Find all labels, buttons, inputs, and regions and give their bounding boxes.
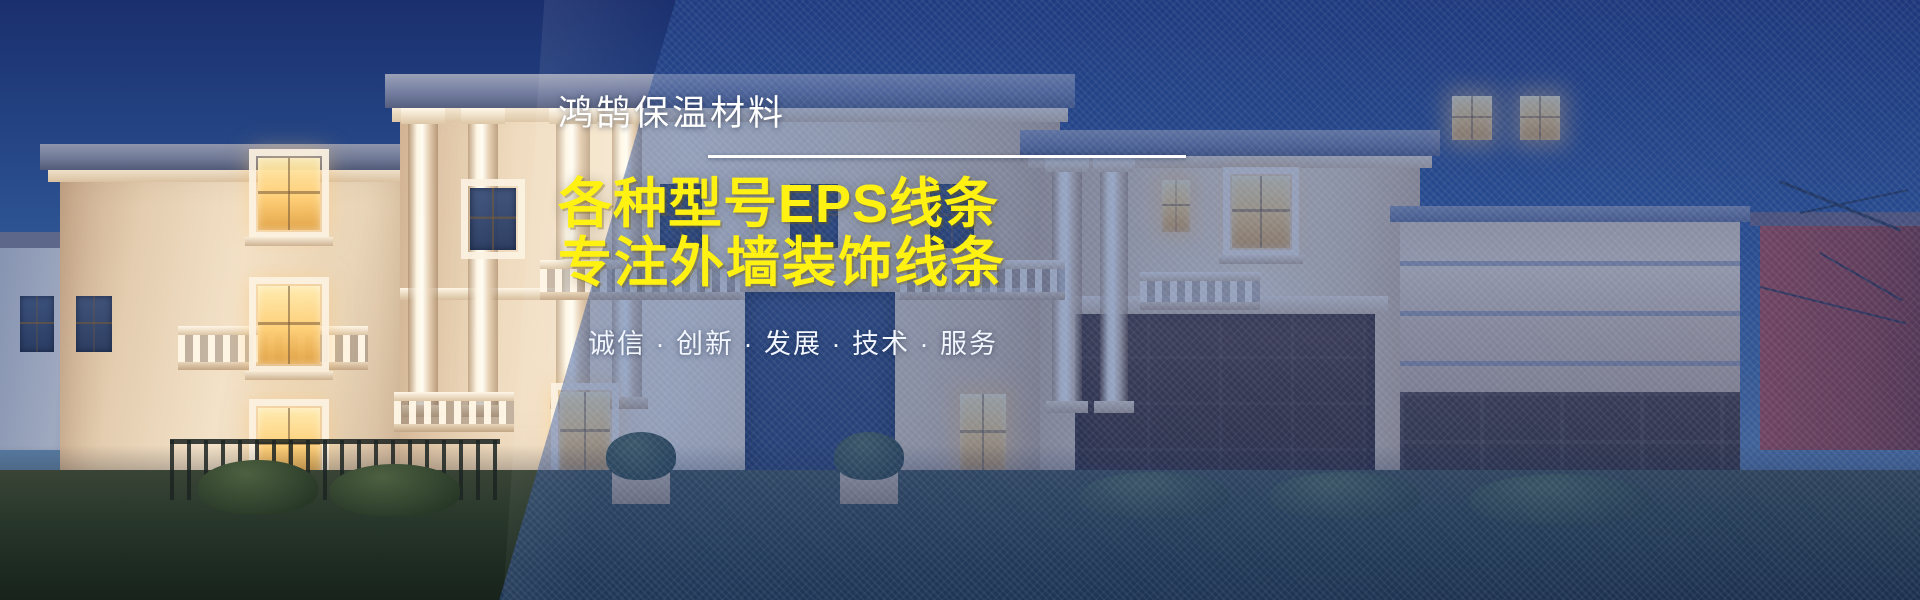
shrub	[834, 432, 904, 480]
window-lit	[258, 286, 320, 364]
headline: 各种型号EPS线条 专注外墙装饰线条	[558, 175, 1298, 294]
column	[468, 120, 498, 408]
right-edge-coping	[1750, 212, 1920, 226]
shrub	[1270, 472, 1420, 518]
shrub	[198, 460, 318, 514]
divider-rule	[708, 155, 1186, 158]
headline-line-1: 各种型号EPS线条	[558, 175, 1298, 234]
window-lit	[1520, 96, 1560, 140]
right-edge-red-structure	[1760, 220, 1920, 450]
tagline: 诚信 · 创新 · 发展 · 技术 · 服务	[588, 322, 1298, 361]
shrub	[606, 432, 676, 480]
balustrade	[394, 392, 514, 432]
far-right-wall	[1400, 215, 1740, 395]
column	[408, 120, 438, 408]
shrub	[1470, 474, 1650, 524]
brand-name: 鸿鹄保温材料	[558, 96, 1298, 133]
window-lit	[258, 158, 320, 230]
banner-copy: 鸿鹄保温材料 各种型号EPS线条 专注外墙装饰线条 诚信 · 创新 · 发展 ·…	[558, 96, 1298, 361]
headline-line-2: 专注外墙装饰线条	[558, 234, 1298, 293]
window-lit	[1452, 96, 1492, 140]
shrub	[1080, 472, 1230, 518]
shrub	[330, 464, 460, 516]
window-dark	[470, 188, 516, 250]
promo-banner: 鸿鹄保温材料 各种型号EPS线条 专注外墙装饰线条 诚信 · 创新 · 发展 ·…	[0, 0, 1920, 600]
far-right-roof	[1390, 206, 1750, 222]
window-dark	[76, 296, 112, 352]
window-dark	[20, 296, 54, 352]
left-wing-roof	[40, 144, 440, 170]
